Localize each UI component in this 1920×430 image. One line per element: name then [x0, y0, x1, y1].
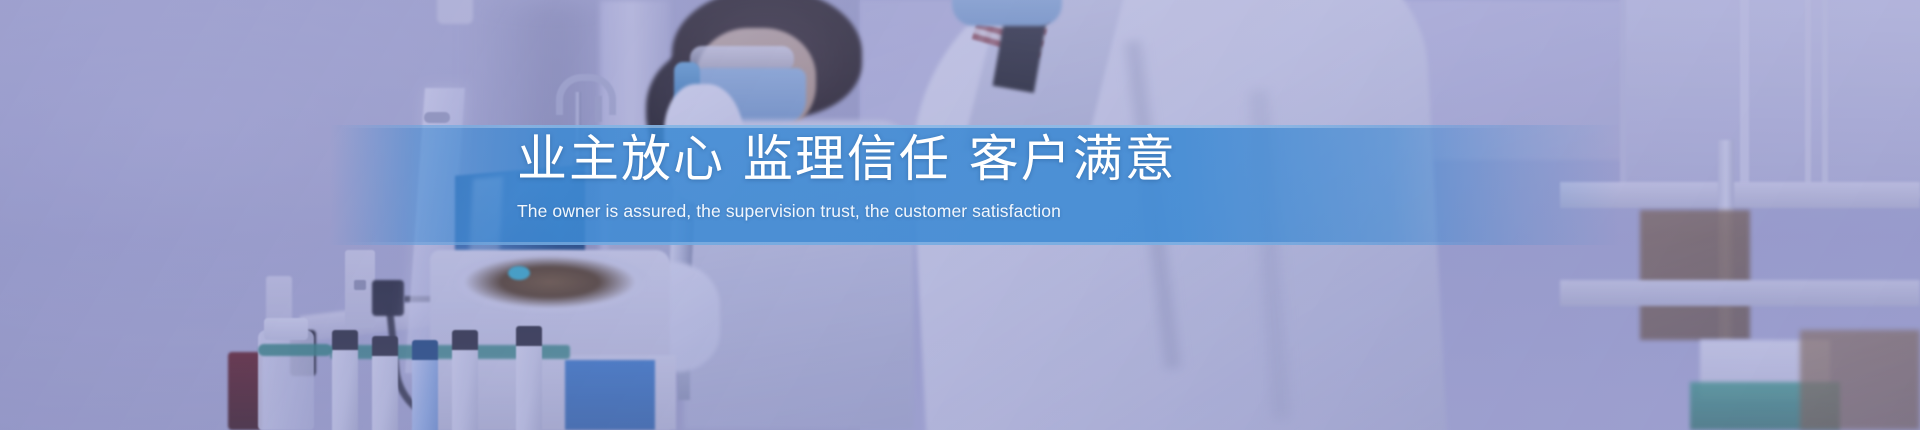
hero-banner: 业主放心 监理信任 客户满意 The owner is assured, the…	[0, 0, 1920, 430]
banner-subheadline: The owner is assured, the supervision tr…	[517, 198, 1061, 224]
banner-headline: 业主放心 监理信任 客户满意	[517, 128, 1177, 190]
band-bottom-edge	[0, 242, 1920, 245]
banner-text-block: 业主放心 监理信任 客户满意 The owner is assured, the…	[517, 128, 1417, 224]
